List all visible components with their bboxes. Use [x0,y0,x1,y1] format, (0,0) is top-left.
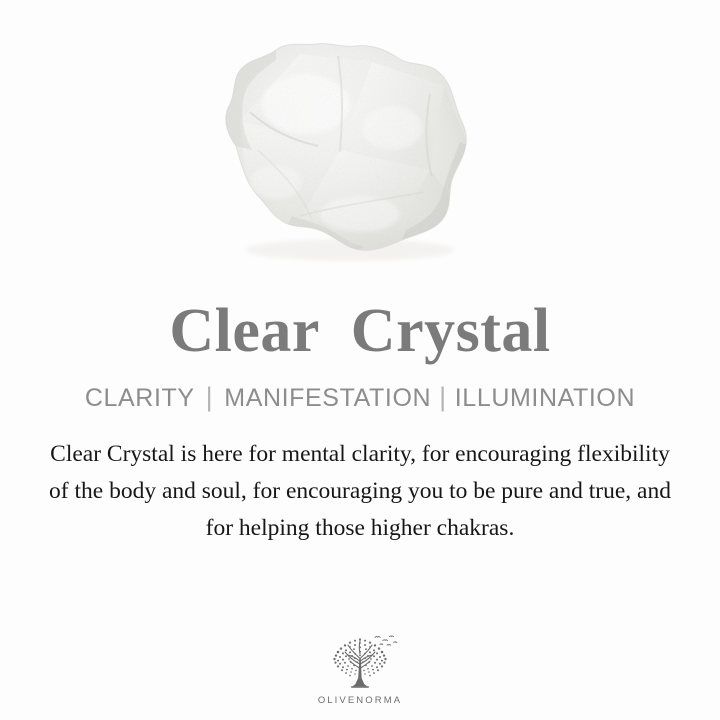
keyword-clarity: CLARITY [85,384,195,413]
olive-tree-icon [318,634,402,692]
keyword-separator: | [431,382,455,413]
crystal-image-region [0,0,720,288]
page-title: Clear Crystal [169,300,550,363]
keyword-list: CLARITY | MANIFESTATION | ILLUMINATION [85,383,635,414]
brand-name: OLIVENORMA [318,695,402,706]
product-description: Clear Crystal is here for mental clarity… [48,436,673,547]
keyword-illumination: ILLUMINATION [455,384,635,413]
crystal-body [200,30,500,270]
keyword-separator: | [195,382,225,413]
raw-clear-quartz-crystal-icon [0,0,720,288]
brand-logo: OLIVENORMA [0,634,720,706]
keyword-manifestation: MANIFESTATION [224,384,431,413]
product-info-card: Clear Crystal CLARITY | MANIFESTATION | … [0,0,720,720]
